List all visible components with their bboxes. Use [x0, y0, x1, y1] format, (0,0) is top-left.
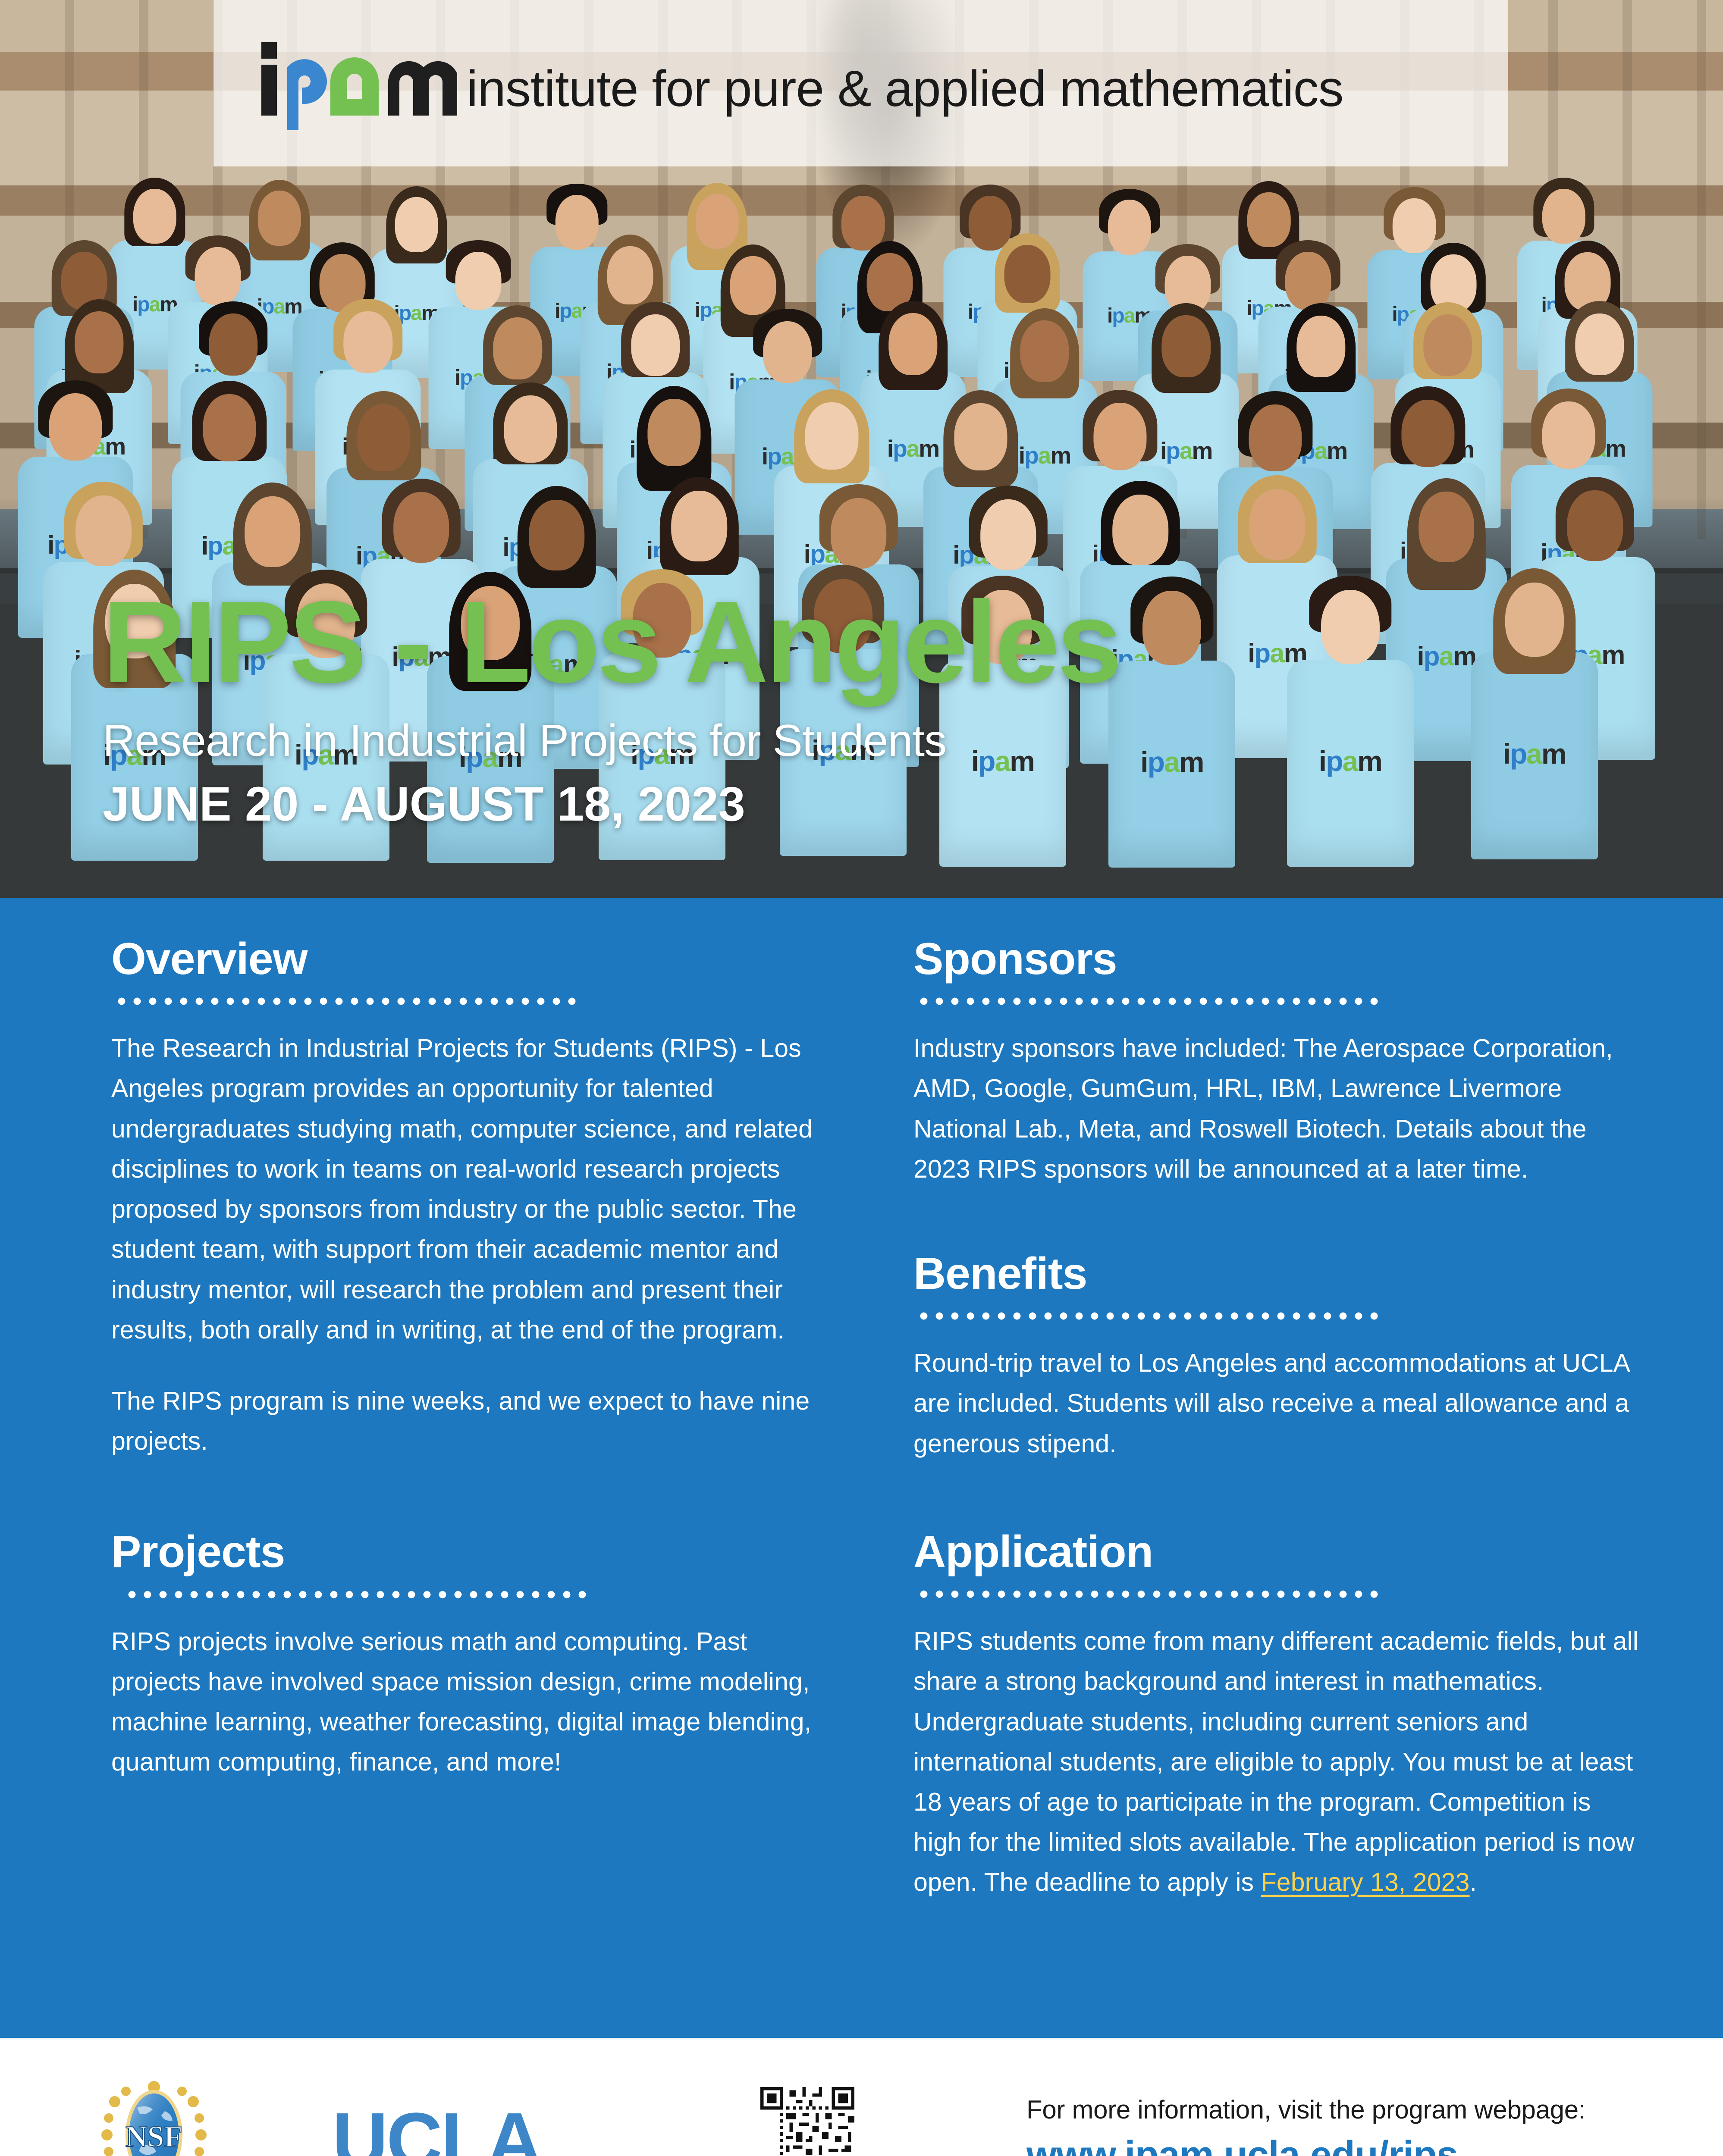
- benefits-paragraph-1: Round-trip travel to Los Angeles and acc…: [913, 1343, 1642, 1464]
- student-face: [1247, 192, 1290, 247]
- student-face: [393, 492, 449, 563]
- student-face: [647, 399, 700, 466]
- student-face: [1020, 320, 1069, 382]
- right-column: Sponsors Industry sponsors have included…: [913, 898, 1642, 1903]
- hero-banner: ipamipamipamipamipamipamipamipamipamipam…: [0, 0, 1723, 898]
- student-face: [1285, 252, 1331, 310]
- student-face: [696, 194, 739, 249]
- student-face: [529, 500, 585, 570]
- tshirt-ipam-logo: ipam: [1140, 748, 1203, 776]
- student-face: [195, 247, 241, 305]
- section-benefits: Benefits Round-trip travel to Los Angele…: [913, 1250, 1642, 1464]
- footer-webpage-link[interactable]: www.ipam.ucla.edu/rips: [1026, 2133, 1630, 2156]
- section-overview: Overview The Research in Industrial Proj…: [111, 898, 840, 1461]
- footer-info-block: For more information, visit the program …: [1026, 2095, 1630, 2156]
- student-face: [1505, 583, 1563, 657]
- qr-code-icon[interactable]: [760, 2087, 854, 2156]
- projects-paragraph-1: RIPS projects involve serious math and c…: [111, 1622, 840, 1783]
- dotted-divider: [916, 1312, 1380, 1320]
- tshirt-ipam-logo: ipam: [1417, 643, 1476, 670]
- student-face: [1296, 316, 1345, 378]
- student-face: [1249, 404, 1302, 472]
- student-face: [763, 321, 812, 383]
- student-face: [831, 498, 887, 569]
- student-face: [631, 314, 680, 376]
- student-face: [805, 402, 858, 470]
- tshirt-ipam-logo: ipam: [1503, 740, 1566, 768]
- left-column: Overview The Research in Industrial Proj…: [111, 898, 840, 1782]
- ucla-logo: UCLA: [332, 2096, 541, 2156]
- student-face: [1542, 189, 1585, 244]
- student-face: [493, 317, 542, 379]
- overview-paragraph-2: The RIPS program is nine weeks, and we e…: [111, 1381, 840, 1461]
- ipam-logo-icon: [259, 36, 457, 130]
- section-projects: Projects RIPS projects involve serious m…: [111, 1529, 840, 1782]
- sponsors-paragraph-1: Industry sponsors have included: The Aer…: [913, 1028, 1642, 1189]
- section-heading-sponsors: Sponsors: [913, 936, 1642, 983]
- student-face: [730, 256, 776, 314]
- section-heading-overview: Overview: [111, 936, 840, 983]
- student-face: [1575, 313, 1624, 376]
- student-figure: ipam: [1470, 571, 1599, 868]
- student-face: [357, 404, 410, 471]
- hero-text-block: RIPS - Los Angeles Research in Industria…: [103, 584, 1119, 832]
- student-face: [245, 496, 301, 567]
- student-face: [1321, 590, 1380, 664]
- application-paragraph-1: RIPS students come from many different a…: [913, 1621, 1642, 1903]
- poster-dates: JUNE 20 - AUGUST 18, 2023: [103, 776, 1119, 832]
- section-application: Application RIPS students come from many…: [913, 1529, 1642, 1903]
- section-heading-projects: Projects: [111, 1529, 840, 1576]
- dotted-divider: [124, 1591, 588, 1598]
- student-face: [209, 313, 257, 376]
- section-heading-application: Application: [913, 1529, 1642, 1576]
- student-face: [1423, 314, 1472, 376]
- student-face: [1112, 495, 1168, 565]
- application-deadline-link[interactable]: February 13, 2023: [1261, 1868, 1470, 1896]
- dotted-divider: [114, 997, 577, 1005]
- tshirt-ipam-logo: ipam: [1319, 747, 1382, 775]
- student-face: [888, 313, 937, 375]
- section-heading-benefits: Benefits: [913, 1250, 1642, 1297]
- student-figure: ipam: [1286, 578, 1415, 875]
- application-text-after-link: .: [1470, 1868, 1477, 1896]
- footer-info-line: For more information, visit the program …: [1026, 2095, 1630, 2125]
- student-face: [671, 491, 727, 561]
- nsf-label: NSF: [126, 2120, 182, 2153]
- section-sponsors: Sponsors Industry sponsors have included…: [913, 898, 1642, 1189]
- student-face: [504, 395, 557, 463]
- dotted-divider: [916, 1590, 1380, 1598]
- ipam-logo-band: institute for pure & applied mathematics: [213, 0, 1508, 166]
- student-face: [133, 189, 176, 244]
- poster-subtitle: Research in Industrial Projects for Stud…: [103, 715, 1119, 767]
- content-panel: Overview The Research in Industrial Proj…: [0, 898, 1723, 2038]
- student-face: [75, 311, 123, 373]
- student-face: [1542, 401, 1595, 469]
- dotted-divider: [916, 997, 1380, 1005]
- student-face: [258, 191, 301, 245]
- student-face: [954, 403, 1007, 470]
- student-face: [1142, 591, 1201, 665]
- ipam-wordmark: institute for pure & applied mathematics: [467, 60, 1343, 118]
- student-face: [203, 394, 256, 461]
- student-face: [1162, 315, 1211, 377]
- student-face: [1419, 492, 1475, 562]
- student-face: [607, 246, 653, 304]
- student-face: [1249, 489, 1306, 560]
- student-face: [49, 393, 102, 461]
- poster-title: RIPS - Los Angeles: [103, 584, 1119, 701]
- nsf-logo-icon: NSF: [100, 2081, 208, 2156]
- student-face: [455, 252, 502, 310]
- student-face: [1004, 245, 1051, 303]
- student-face: [344, 311, 392, 373]
- poster-footer: NSF UCLA: [0, 2038, 1723, 2156]
- application-text-before-link: RIPS students come from many different a…: [913, 1627, 1638, 1896]
- student-face: [980, 499, 1036, 570]
- student-figure: ipam: [1107, 579, 1237, 876]
- student-face: [1567, 490, 1623, 561]
- student-face: [841, 196, 885, 251]
- student-face: [1093, 403, 1146, 470]
- student-face: [1401, 400, 1454, 467]
- overview-paragraph-1: The Research in Industrial Projects for …: [111, 1028, 840, 1350]
- student-face: [75, 495, 132, 566]
